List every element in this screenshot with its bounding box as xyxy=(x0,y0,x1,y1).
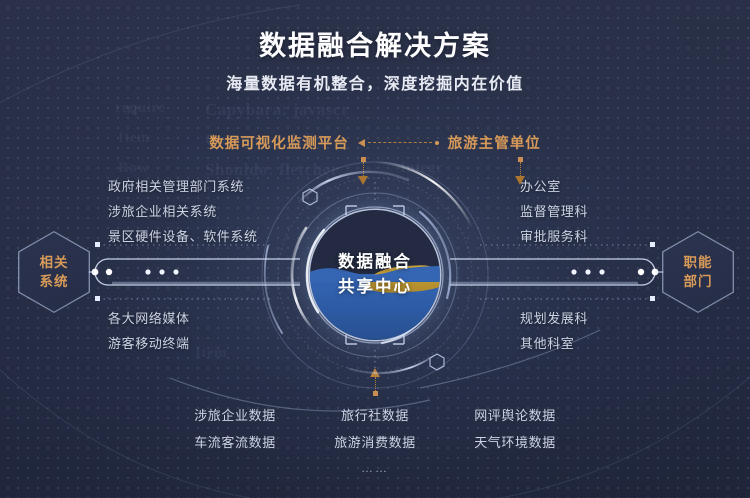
left-bottom-item-list: 各大网络媒体 游客移动终端 xyxy=(108,306,190,356)
bottom-data-row: 涉旅企业数据 旅行社数据 网评舆论数据 xyxy=(185,405,565,424)
left-top-item-list: 政府相关管理部门系统 涉旅企业相关系统 景区硬件设备、软件系统 xyxy=(108,174,258,249)
data-item[interactable]: 天气环境数据 xyxy=(465,432,565,451)
bottom-data-grid: 涉旅企业数据 旅行社数据 网评舆论数据 车流客流数据 旅游消费数据 天气环境数据… xyxy=(0,405,750,475)
infographic-canvas: Capybara: javascr Category: delete Shoul… xyxy=(0,0,750,498)
right-bottom-item-list: 规划发展科 其他科室 xyxy=(520,306,588,356)
list-item[interactable]: 游客移动终端 xyxy=(108,331,190,356)
hexagon-label-line2: 系统 xyxy=(40,272,69,291)
hexagon-functional-departments[interactable]: 职能 部门 xyxy=(662,231,734,313)
data-item[interactable]: 旅游消费数据 xyxy=(325,432,425,451)
hexagon-label-line1: 职能 xyxy=(684,253,713,272)
data-item[interactable]: 旅行社数据 xyxy=(325,405,425,424)
hexagon-label-line1: 相关 xyxy=(40,253,69,272)
list-item[interactable]: 政府相关管理部门系统 xyxy=(108,174,258,199)
core-circle: 数据融合 共享中心 xyxy=(310,210,440,340)
right-top-item-list: 办公室 监督管理科 审批服务科 xyxy=(520,174,588,249)
list-item[interactable]: 涉旅企业相关系统 xyxy=(108,199,258,224)
list-item[interactable]: 监督管理科 xyxy=(520,199,588,224)
list-item[interactable]: 规划发展科 xyxy=(520,306,588,331)
list-item[interactable]: 各大网络媒体 xyxy=(108,306,190,331)
hexagon-label-line2: 部门 xyxy=(684,272,713,291)
bottom-ellipsis: …… xyxy=(361,461,389,475)
core-label-line1: 数据融合 xyxy=(338,250,412,275)
data-item[interactable]: 网评舆论数据 xyxy=(465,405,565,424)
list-item[interactable]: 审批服务科 xyxy=(520,224,588,249)
hexagon-related-systems[interactable]: 相关 系统 xyxy=(18,231,90,313)
list-item[interactable]: 办公室 xyxy=(520,174,588,199)
list-item[interactable]: 景区硬件设备、软件系统 xyxy=(108,224,258,249)
list-item[interactable]: 其他科室 xyxy=(520,331,588,356)
core-label: 数据融合 共享中心 xyxy=(310,210,440,340)
data-item[interactable]: 涉旅企业数据 xyxy=(185,405,285,424)
data-item[interactable]: 车流客流数据 xyxy=(185,432,285,451)
core-label-line2: 共享中心 xyxy=(338,275,412,300)
bottom-data-row: 车流客流数据 旅游消费数据 天气环境数据 xyxy=(185,432,565,451)
